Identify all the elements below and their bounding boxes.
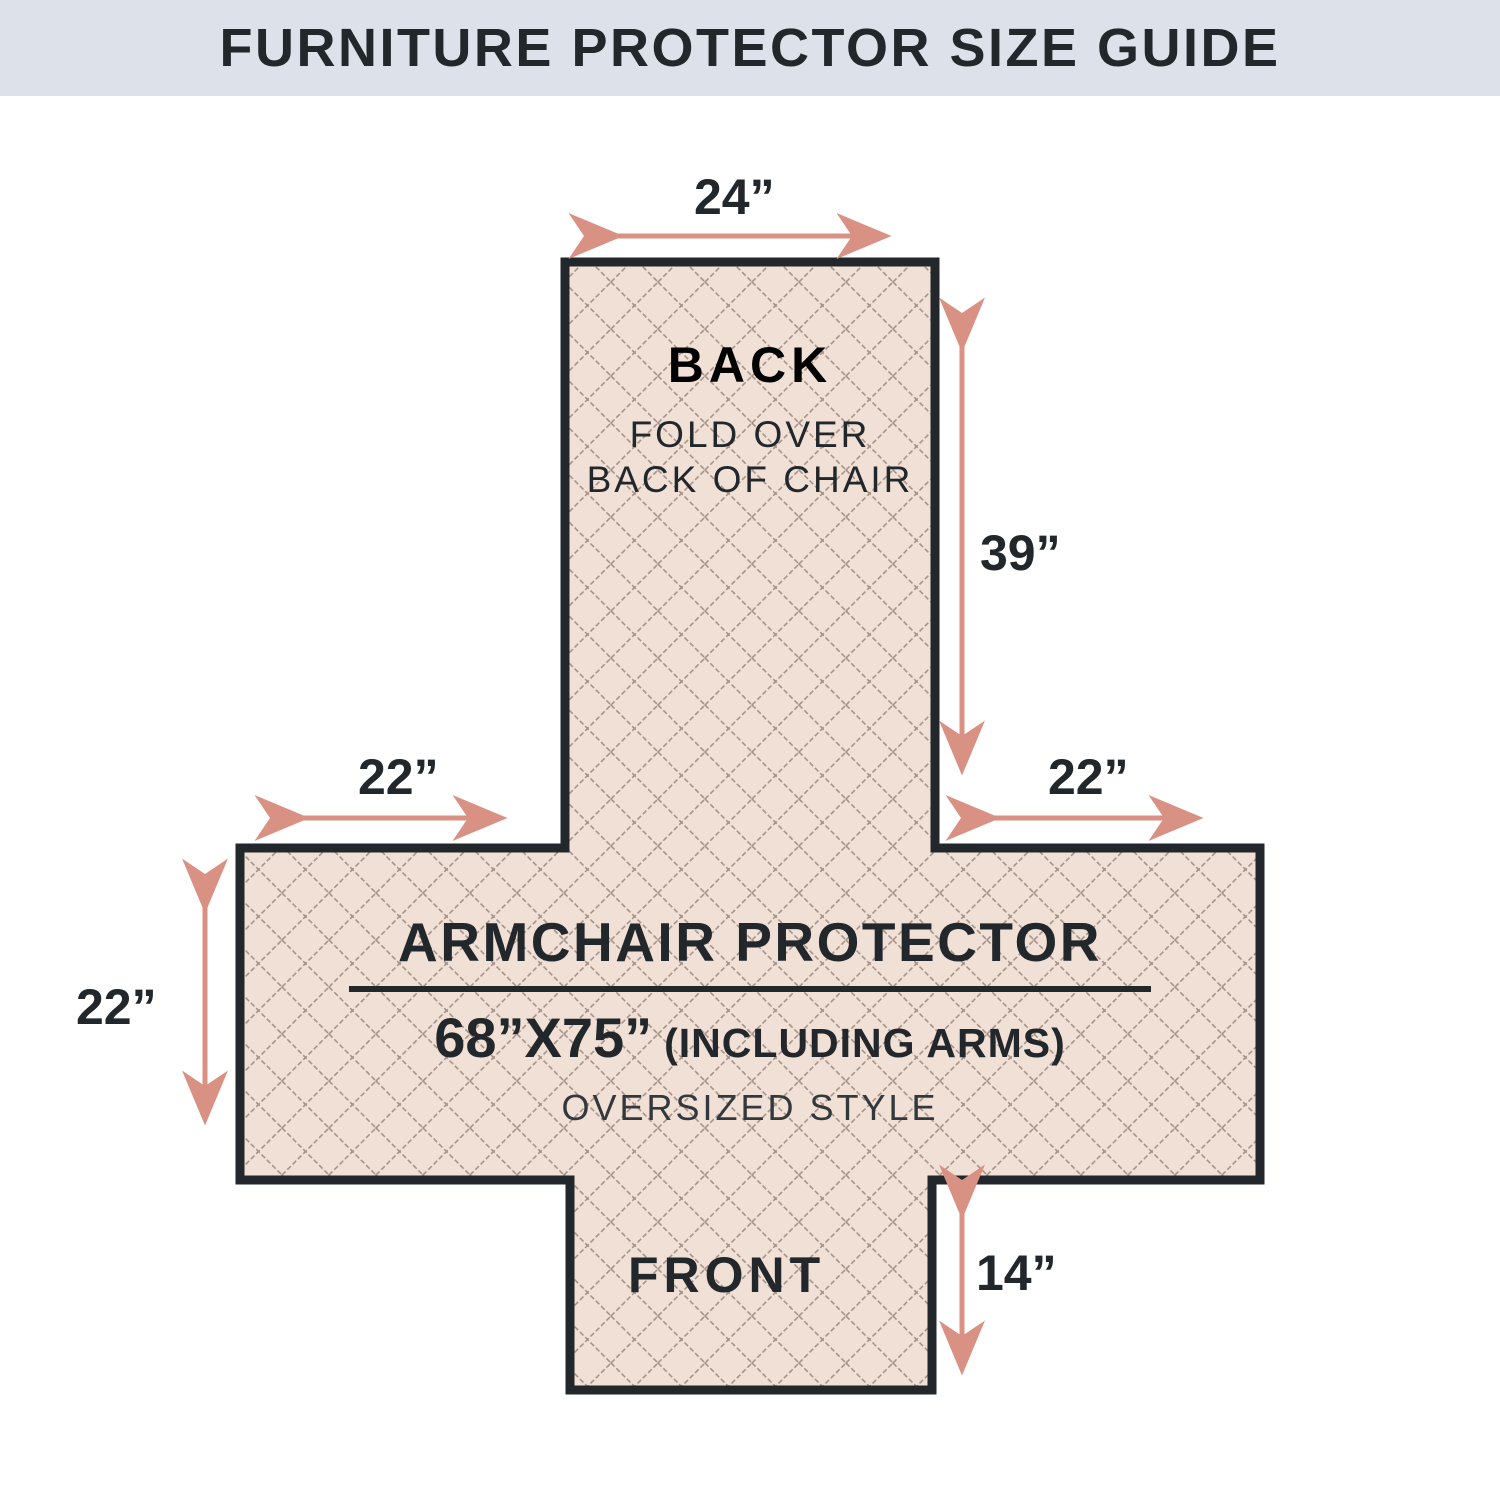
dimension-label-left-arm: 22” [358,752,439,802]
product-size-note: (INCLUDING ARMS) [664,1023,1066,1064]
dimension-label-arm-depth: 22” [76,982,157,1032]
product-size: 68”X75” [434,1010,652,1066]
back-panel-text: BACK FOLD OVER BACK OF CHAIR [565,340,935,502]
dimension-label-back-height: 39” [980,528,1061,578]
product-size-row: 68”X75” (INCLUDING ARMS) [240,1010,1260,1066]
back-panel-subtitle-line2: BACK OF CHAIR [587,459,914,500]
dimension-label-right-arm: 22” [1048,752,1129,802]
front-panel-title: FRONT [628,1250,825,1300]
center-panel-text: ARMCHAIR PROTECTOR 68”X75” (INCLUDING AR… [240,915,1260,1126]
back-panel-subtitle-line1: FOLD OVER [630,414,871,455]
dimension-label-front-height: 14” [976,1248,1057,1298]
back-panel-title: BACK [565,340,935,390]
back-panel-subtitle: FOLD OVER BACK OF CHAIR [565,412,935,502]
dimension-label-back-width: 24” [694,172,775,222]
title-divider [349,986,1151,992]
product-title: ARMCHAIR PROTECTOR [240,915,1260,970]
product-style: OVERSIZED STYLE [240,1090,1260,1126]
size-guide-page: FURNITURE PROTECTOR SIZE GUIDE [0,0,1500,1500]
